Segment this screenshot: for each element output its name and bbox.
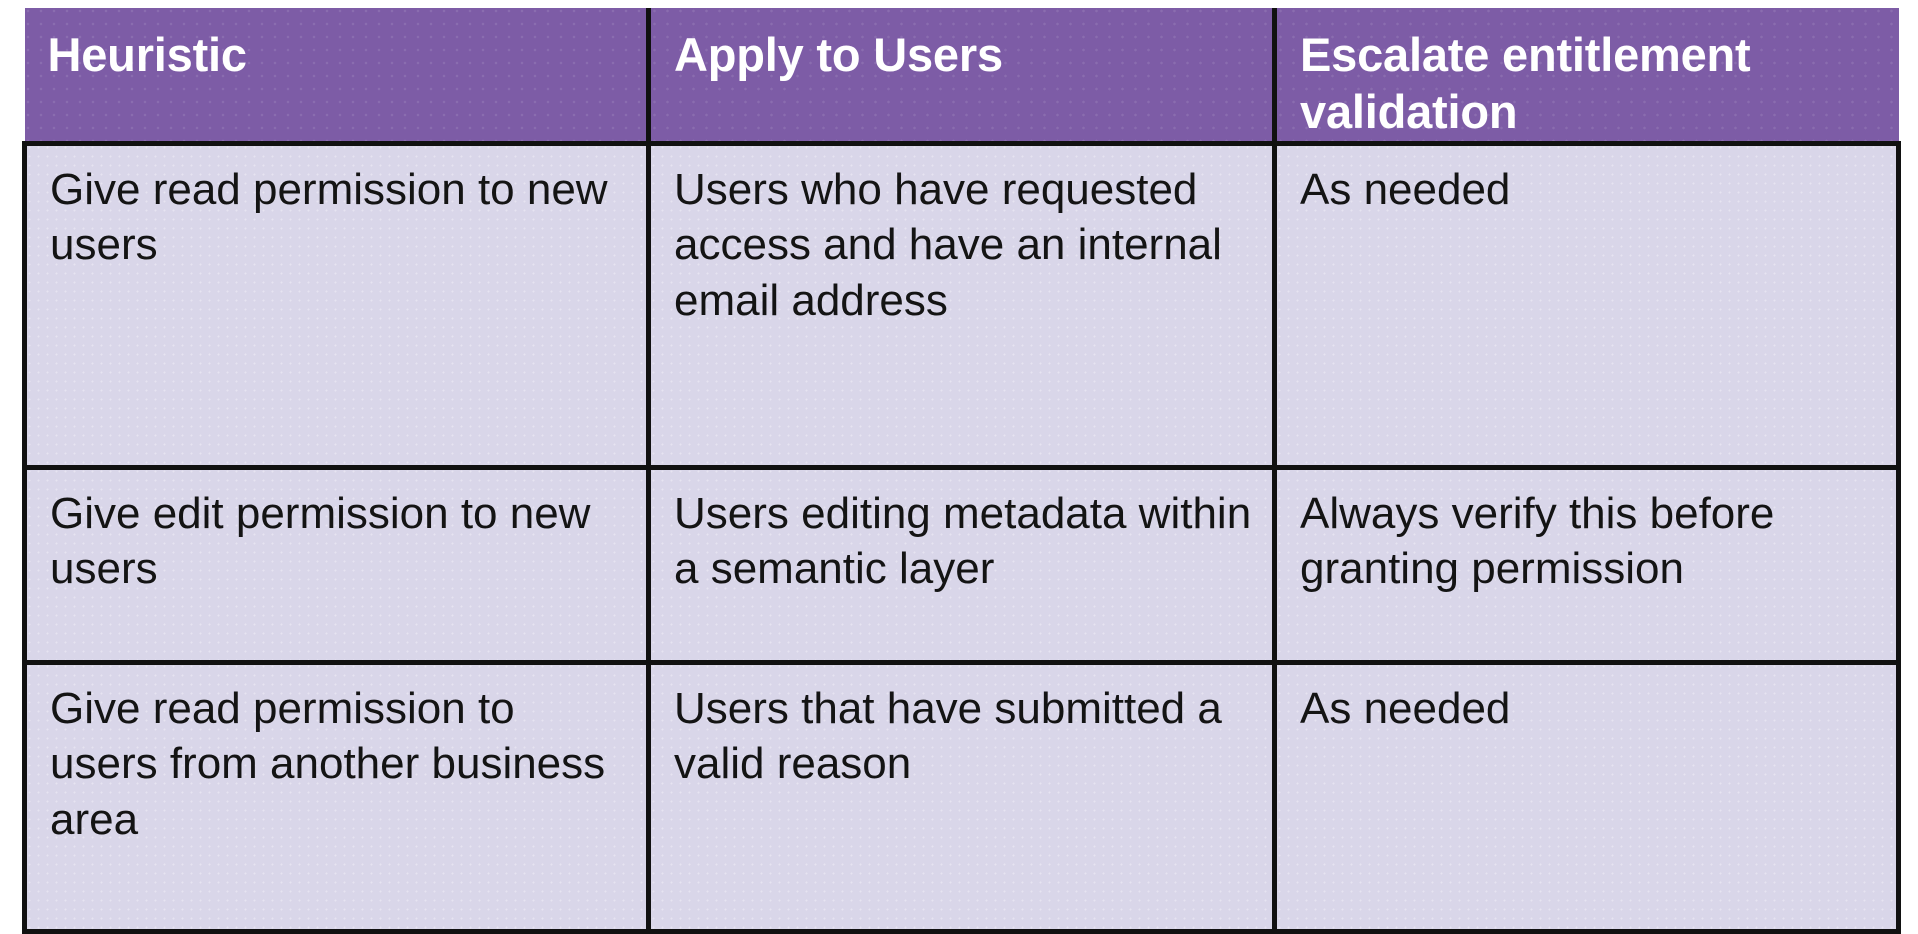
table-row: Give edit permission to new users Users … xyxy=(25,467,1899,662)
column-header-heuristic-label: Heuristic xyxy=(48,26,647,83)
table-row: Give read permission to users from anoth… xyxy=(25,662,1899,931)
cell-apply-to-users-text: Users that have submitted a valid reason xyxy=(674,681,1258,792)
heuristics-table: Heuristic Apply to Users Escalate entitl… xyxy=(22,8,1901,934)
column-header-escalate-entitlement-validation: Escalate entitlement validation xyxy=(1275,8,1899,143)
cell-heuristic-text: Give edit permission to new users xyxy=(50,486,632,597)
cell-escalate: Always verify this before granting permi… xyxy=(1275,467,1899,662)
table-header: Heuristic Apply to Users Escalate entitl… xyxy=(25,8,1899,143)
column-header-apply-to-users: Apply to Users xyxy=(649,8,1275,143)
column-header-heuristic: Heuristic xyxy=(25,8,649,143)
cell-heuristic-text: Give read permission to users from anoth… xyxy=(50,681,632,847)
column-header-escalate-entitlement-validation-label: Escalate entitlement validation xyxy=(1300,26,1899,141)
cell-apply-to-users: Users that have submitted a valid reason xyxy=(649,662,1275,931)
cell-escalate-text: As needed xyxy=(1300,681,1882,736)
cell-heuristic-text: Give read permission to new users xyxy=(50,162,632,273)
cell-escalate: As needed xyxy=(1275,662,1899,931)
cell-apply-to-users: Users who have requested access and have… xyxy=(649,143,1275,467)
table-header-row: Heuristic Apply to Users Escalate entitl… xyxy=(25,8,1899,143)
cell-apply-to-users-text: Users editing metadata within a semantic… xyxy=(674,486,1258,597)
table-row: Give read permission to new users Users … xyxy=(25,143,1899,467)
cell-apply-to-users: Users editing metadata within a semantic… xyxy=(649,467,1275,662)
cell-escalate-text: As needed xyxy=(1300,162,1882,217)
column-header-apply-to-users-label: Apply to Users xyxy=(674,26,1272,83)
heuristics-table-container: Heuristic Apply to Users Escalate entitl… xyxy=(22,8,1896,925)
cell-heuristic: Give read permission to new users xyxy=(25,143,649,467)
cell-heuristic: Give edit permission to new users xyxy=(25,467,649,662)
cell-escalate: As needed xyxy=(1275,143,1899,467)
cell-apply-to-users-text: Users who have requested access and have… xyxy=(674,162,1258,328)
table-body: Give read permission to new users Users … xyxy=(25,143,1899,931)
cell-escalate-text: Always verify this before granting permi… xyxy=(1300,486,1882,597)
cell-heuristic: Give read permission to users from anoth… xyxy=(25,662,649,931)
